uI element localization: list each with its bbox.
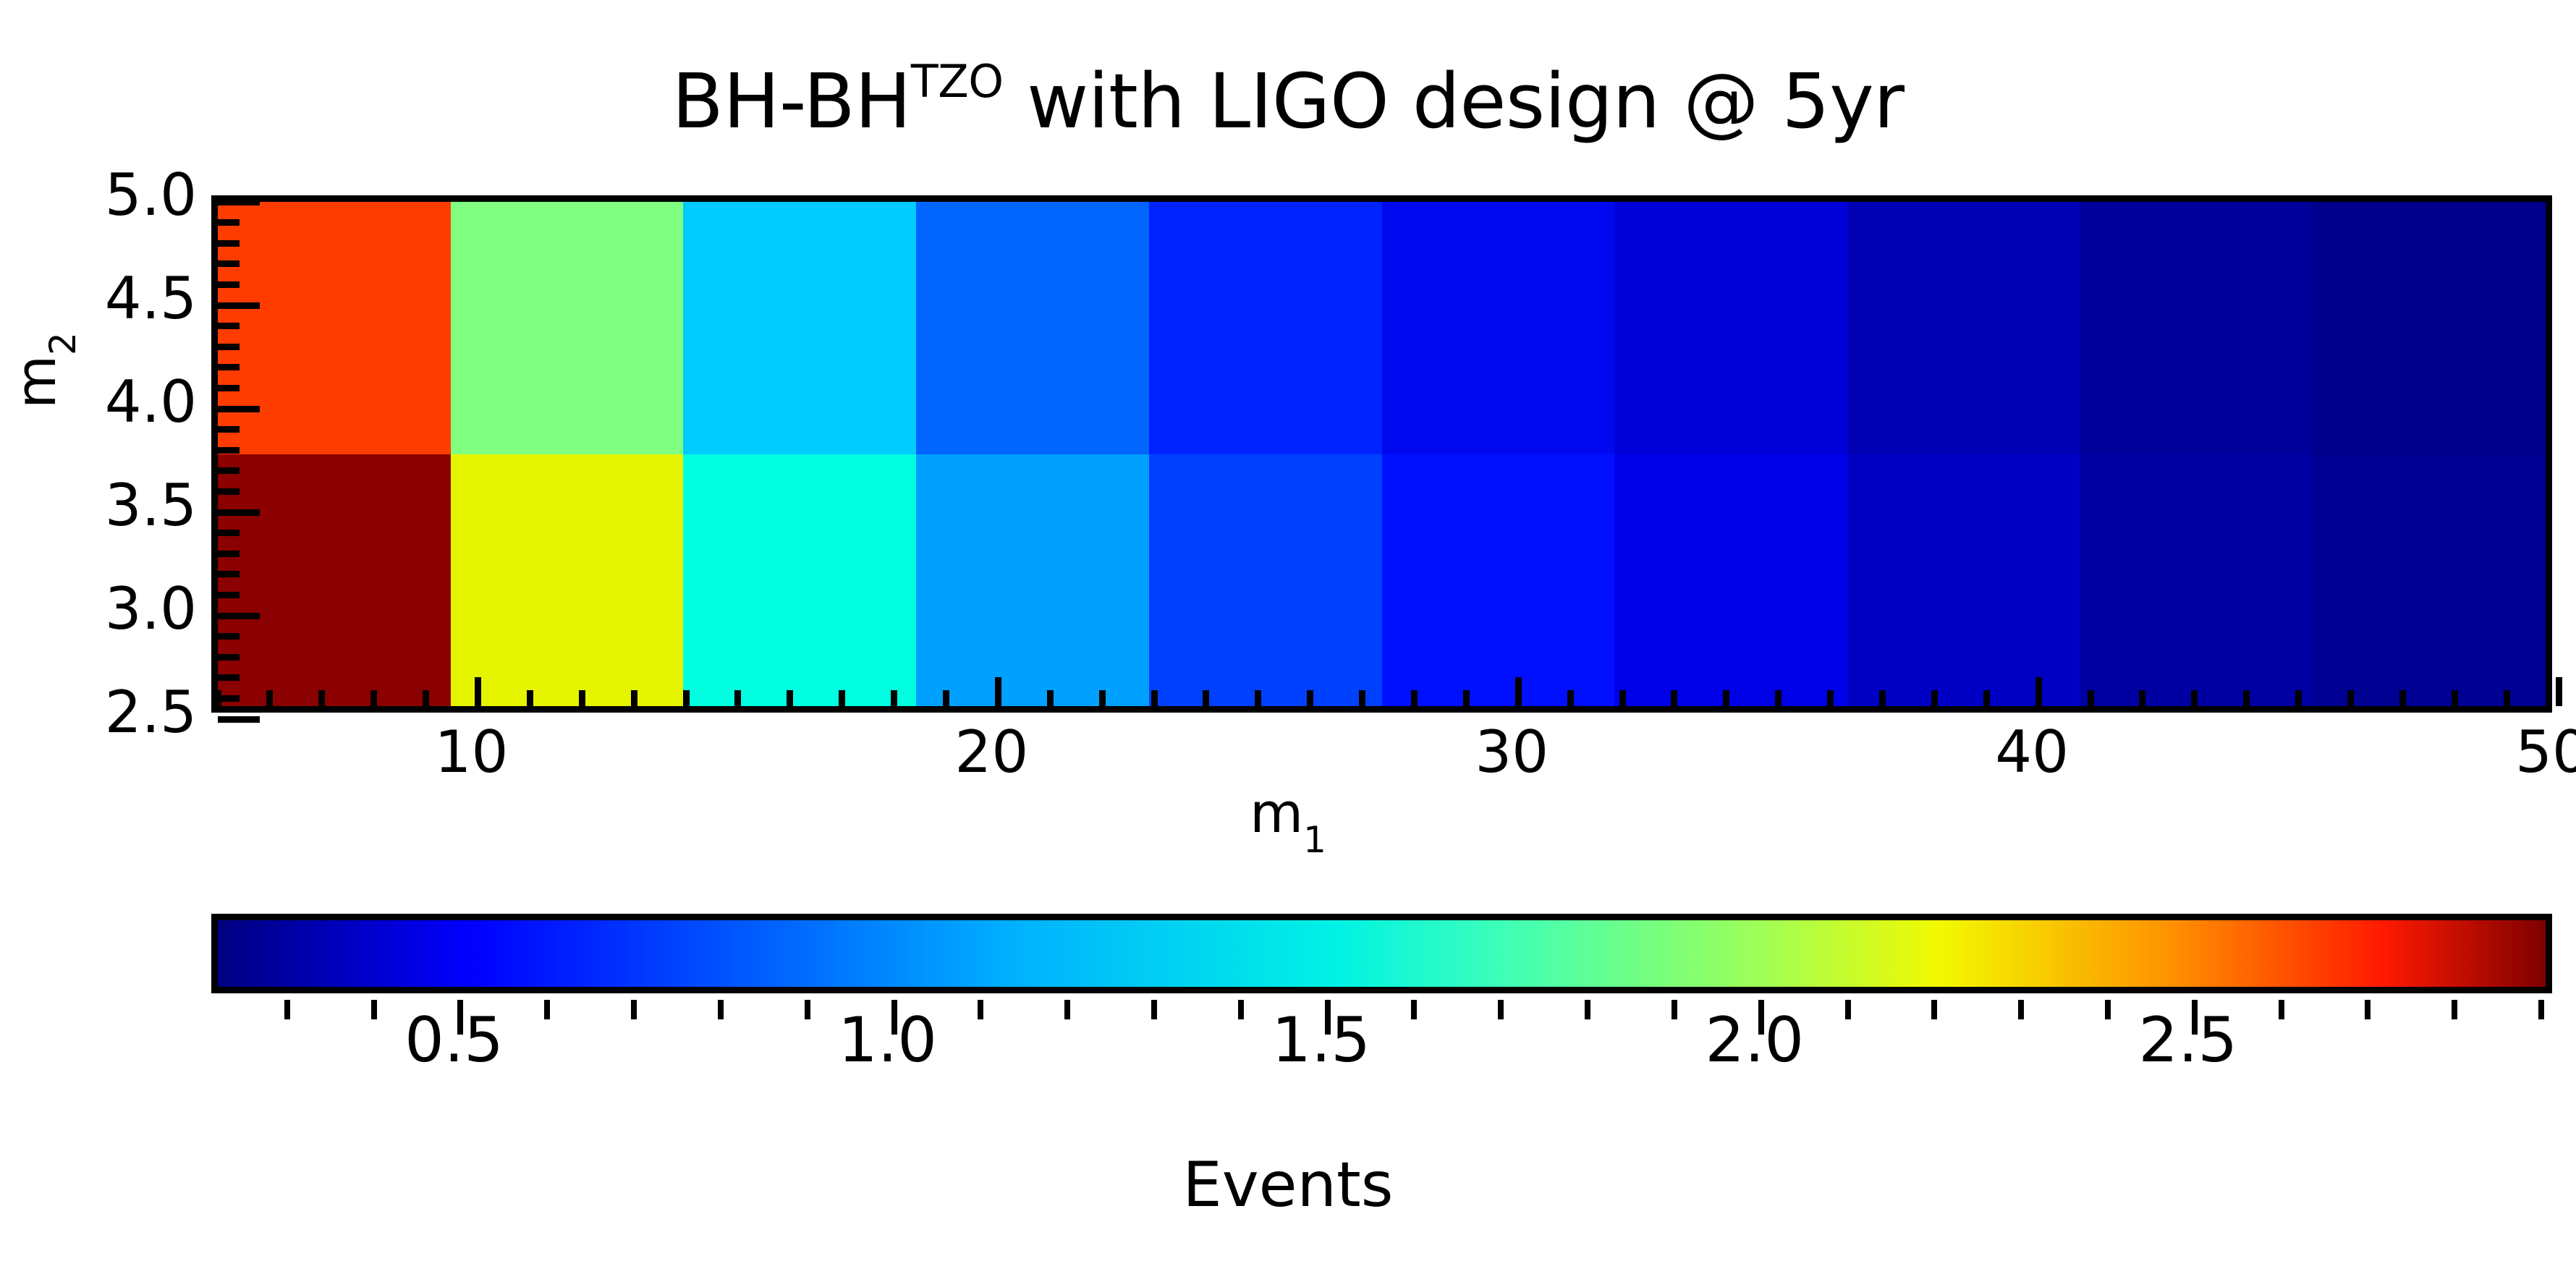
colorbar-tick-minor	[284, 1000, 290, 1019]
x-tick-minor	[266, 690, 273, 706]
x-axis-label-base: m	[1250, 781, 1303, 845]
colorbar-tick-minor	[2279, 1000, 2284, 1019]
colorbar-tick-minor	[2105, 1000, 2111, 1019]
y-tick-minor	[218, 530, 240, 536]
x-tick-minor	[1307, 690, 1313, 706]
x-tick-minor	[943, 690, 949, 706]
x-tick-major	[2556, 677, 2562, 706]
x-tick-minor	[527, 690, 533, 706]
heatmap-cell	[1847, 454, 2080, 707]
x-tick-label: 10	[435, 723, 509, 781]
y-tick-label: 4.5	[0, 270, 197, 328]
y-tick-minor	[218, 571, 240, 577]
y-tick-label: 3.5	[0, 477, 197, 535]
y-tick-minor	[218, 240, 240, 247]
colorbar-tick-minor	[1845, 1000, 1851, 1019]
heatmap-cell	[916, 454, 1149, 707]
y-tick-major	[218, 716, 260, 723]
figure-canvas: BH-BHTZO with LIGO design @ 5yr 2.53.03.…	[0, 0, 2576, 1282]
x-axis-label-subscript: 1	[1303, 819, 1326, 861]
heatmap-cell	[451, 454, 684, 707]
x-tick-minor	[215, 690, 221, 706]
y-tick-major	[218, 509, 260, 516]
colorbar-tick-minor	[1931, 1000, 1937, 1019]
colorbar-tick-minor	[2538, 1000, 2544, 1019]
x-tick-minor	[1671, 690, 1677, 706]
x-tick-minor	[683, 690, 690, 706]
heatmap-cell	[1382, 454, 1615, 707]
x-tick-minor	[1775, 690, 1781, 706]
x-tick-label: 50	[2515, 723, 2576, 781]
colorbar-tick-minor	[1585, 1000, 1590, 1019]
x-tick-label: 20	[954, 723, 1028, 781]
x-tick-minor	[1567, 690, 1574, 706]
heatmap-cell	[1614, 202, 1847, 454]
colorbar-tick-minor	[1672, 1000, 1677, 1019]
colorbar-tick-minor	[631, 1000, 637, 1019]
heatmap-cell	[683, 454, 916, 707]
x-tick-minor	[1619, 690, 1626, 706]
y-tick-minor	[218, 364, 240, 370]
colorbar-tick-minor	[718, 1000, 724, 1019]
x-tick-minor	[787, 690, 793, 706]
x-tick-minor	[1931, 690, 1938, 706]
title-suffix: with LIGO design @ 5yr	[1004, 57, 1905, 145]
colorbar-tick-minor	[2018, 1000, 2024, 1019]
y-tick-minor	[218, 385, 240, 391]
x-tick-label: 40	[1995, 723, 2069, 781]
heatmap-cell	[1382, 202, 1615, 454]
y-tick-minor	[218, 344, 240, 350]
colorbar-tick-minor	[2452, 1000, 2457, 1019]
x-tick-minor	[370, 690, 377, 706]
colorbar-tick-label: 0.5	[404, 1009, 504, 1071]
heatmap-cell	[2080, 454, 2313, 707]
x-tick-minor	[2399, 690, 2406, 706]
x-tick-minor	[2243, 690, 2250, 706]
y-tick-minor	[218, 654, 240, 661]
y-tick-label: 2.5	[0, 684, 197, 742]
colorbar-tick-minor	[1064, 1000, 1070, 1019]
y-tick-minor	[218, 633, 240, 640]
y-tick-major	[218, 406, 260, 412]
x-tick-major	[995, 677, 1001, 706]
colorbar-tick-label: 2.0	[1705, 1009, 1804, 1071]
x-tick-major	[1515, 677, 1522, 706]
x-tick-minor	[1203, 690, 1209, 706]
colorbar-tick-label: 2.5	[2138, 1009, 2237, 1071]
y-tick-minor	[218, 281, 240, 288]
x-tick-major	[475, 677, 481, 706]
page-title: BH-BHTZO with LIGO design @ 5yr	[0, 64, 2576, 139]
y-axis-label-subscript: 2	[42, 332, 84, 355]
heatmap-cell	[2313, 454, 2546, 707]
x-tick-minor	[2452, 690, 2458, 706]
colorbar	[211, 914, 2552, 993]
colorbar-tick-minor	[1151, 1000, 1157, 1019]
title-prefix: BH-BH	[671, 57, 910, 145]
x-tick-minor	[1983, 690, 1990, 706]
heatmap-cell	[2080, 202, 2313, 454]
x-axis-label: m1	[0, 786, 2576, 841]
x-tick-minor	[1827, 690, 1834, 706]
x-tick-minor	[318, 690, 325, 706]
y-tick-major	[218, 613, 260, 619]
y-tick-minor	[218, 323, 240, 329]
x-tick-label: 30	[1475, 723, 1548, 781]
y-tick-minor	[218, 467, 240, 474]
x-tick-minor	[1359, 690, 1365, 706]
x-tick-minor	[839, 690, 845, 706]
x-tick-minor	[1879, 690, 1886, 706]
colorbar-tick-label: 1.0	[838, 1009, 937, 1071]
colorbar-tick-minor	[1411, 1000, 1417, 1019]
colorbar-tick-minor	[978, 1000, 983, 1019]
colorbar-tick-minor	[1238, 1000, 1244, 1019]
x-tick-minor	[734, 690, 741, 706]
y-tick-label: 3.0	[0, 580, 197, 638]
heatmap-cell	[451, 202, 684, 454]
heatmap-cell	[2313, 202, 2546, 454]
y-axis-label: m2	[9, 332, 64, 409]
x-tick-minor	[2088, 690, 2094, 706]
heatmap-cell	[916, 202, 1149, 454]
colorbar-gradient	[218, 920, 2546, 987]
colorbar-tick-label: 1.5	[1271, 1009, 1370, 1071]
x-tick-minor	[1255, 690, 1261, 706]
x-tick-minor	[2295, 690, 2302, 706]
heatmap-cell	[218, 454, 451, 707]
heatmap-cell	[683, 202, 916, 454]
colorbar-tick-minor	[371, 1000, 377, 1019]
x-tick-minor	[2504, 690, 2510, 706]
x-tick-minor	[1099, 690, 1106, 706]
y-tick-major	[218, 302, 260, 309]
heatmap-cell	[1614, 454, 1847, 707]
heatmap-cell	[218, 202, 451, 454]
y-tick-label: 5.0	[0, 166, 197, 224]
heatmap-cell	[1149, 202, 1382, 454]
y-tick-minor	[218, 260, 240, 267]
x-tick-minor	[1723, 690, 1729, 706]
x-tick-major	[2035, 677, 2042, 706]
heatmap-cell	[1149, 454, 1382, 707]
x-tick-minor	[2191, 690, 2198, 706]
x-tick-minor	[2139, 690, 2145, 706]
colorbar-tick-minor	[1498, 1000, 1504, 1019]
y-axis-label-base: m	[4, 355, 68, 409]
x-tick-minor	[579, 690, 585, 706]
x-tick-minor	[631, 690, 637, 706]
x-tick-minor	[1463, 690, 1470, 706]
x-tick-minor	[891, 690, 897, 706]
x-tick-minor	[1151, 690, 1158, 706]
y-tick-minor	[218, 551, 240, 557]
x-tick-minor	[1411, 690, 1418, 706]
colorbar-label: Events	[0, 1154, 2576, 1216]
y-tick-minor	[218, 695, 240, 702]
colorbar-tick-minor	[544, 1000, 550, 1019]
x-tick-minor	[1047, 690, 1054, 706]
colorbar-tick-minor	[2365, 1000, 2370, 1019]
x-tick-minor	[423, 690, 429, 706]
y-tick-minor	[218, 426, 240, 433]
heatmap-cell	[1847, 202, 2080, 454]
y-tick-minor	[218, 488, 240, 495]
y-tick-minor	[218, 592, 240, 598]
heatmap-axes	[211, 195, 2552, 713]
y-tick-major	[218, 199, 260, 205]
heatmap-grid	[218, 202, 2546, 706]
y-tick-minor	[218, 219, 240, 226]
y-tick-minor	[218, 674, 240, 681]
title-superscript: TZO	[911, 55, 1004, 108]
colorbar-tick-minor	[805, 1000, 810, 1019]
x-tick-minor	[2347, 690, 2354, 706]
y-tick-minor	[218, 447, 240, 454]
